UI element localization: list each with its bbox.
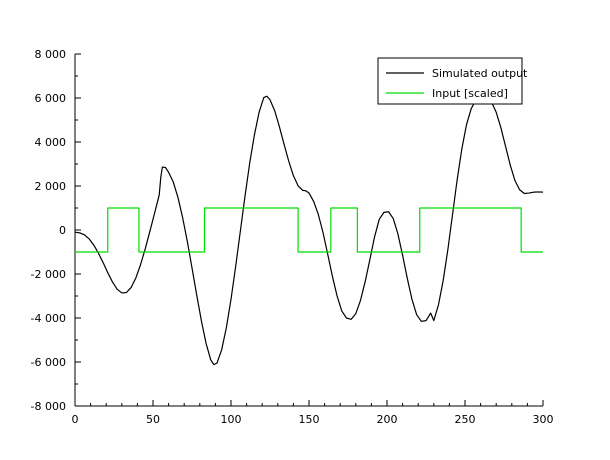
legend-label-1: Input [scaled] [432,87,508,100]
y-tick-label: -6 000 [31,356,66,369]
chart-figure: -8 000-6 000-4 000-2 00002 0004 0006 000… [0,0,610,460]
y-tick-label: 2 000 [35,180,67,193]
x-tick-label: 150 [299,413,320,426]
chart-legend: Simulated outputInput [scaled] [378,58,528,104]
series-layer [75,96,543,364]
y-tick-label: -4 000 [31,312,66,325]
x-tick-label: 0 [72,413,79,426]
y-axis: -8 000-6 000-4 000-2 00002 0004 0006 000… [31,48,81,413]
plot-canvas: -8 000-6 000-4 000-2 00002 0004 0006 000… [0,0,610,460]
y-tick-label: 8 000 [35,48,67,61]
x-tick-label: 50 [146,413,160,426]
y-tick-label: 6 000 [35,92,67,105]
x-tick-label: 300 [533,413,554,426]
legend-label-0: Simulated output [432,67,528,80]
x-axis: 050100150200250300 [72,400,554,426]
x-tick-label: 200 [377,413,398,426]
y-tick-label: -2 000 [31,268,66,281]
y-tick-label: 0 [59,224,66,237]
x-tick-label: 100 [221,413,242,426]
series-input-scaled [75,208,543,252]
series-simulated-output [75,96,543,364]
x-tick-label: 250 [455,413,476,426]
y-tick-label: -8 000 [31,400,66,413]
y-tick-label: 4 000 [35,136,67,149]
